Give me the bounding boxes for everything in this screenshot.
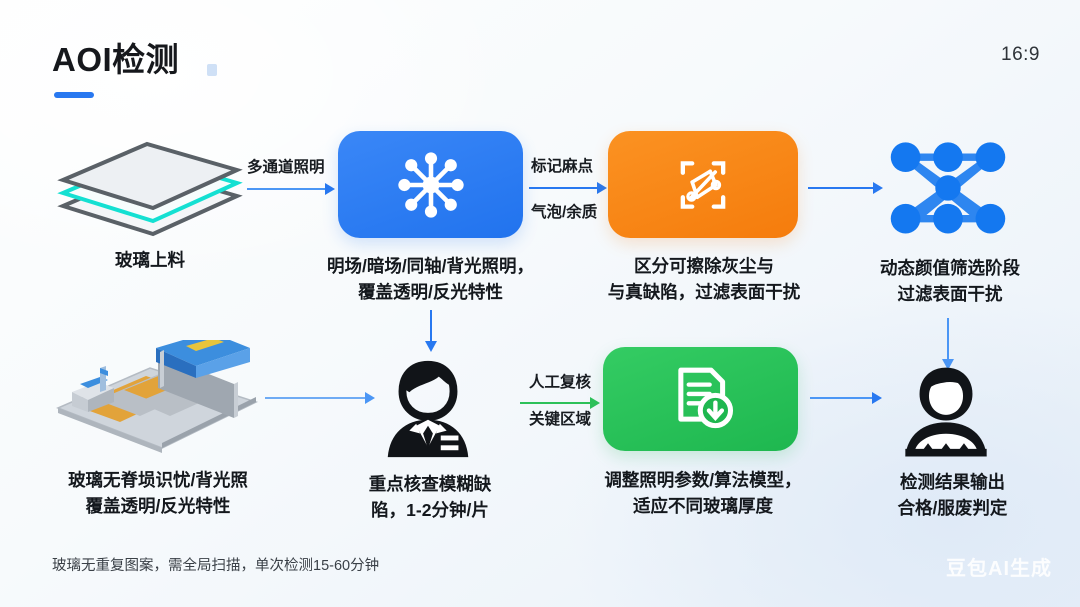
network-hub-icon [393,147,469,223]
arrow-label-mark-pits: 标记麻点 [531,154,593,176]
process-box-multi-illumination[interactable] [338,131,523,238]
operator-person-icon [894,360,998,469]
node-caption-dynamic-threshold: 动态颜值筛选阶段 过滤表面干扰 [855,256,1045,308]
aoi-machine-icon [38,340,273,455]
neural-network-icon [884,136,1012,247]
process-box-tune-params[interactable] [603,347,798,451]
document-download-icon [665,363,737,435]
glass-sheet-stack-icon [55,138,245,238]
node-caption-glass-machine: 玻璃无脊埙识忧/背光照 覆盖透明/反光特性 [38,468,278,520]
node-caption-manual-review: 重点核查模糊缺 陷，1-2分钟/片 [350,472,510,524]
ai-watermark: 豆包AI生成 [946,552,1052,581]
arrow-tuning-to-output [810,391,882,405]
arrow-label-key-area: 关键区域 [529,407,591,429]
node-caption-multi-illumination: 明场/暗场/同轴/背光照明， 覆盖透明/反光特性 [303,254,558,306]
title-decoration-dot [207,64,217,76]
arrow-label-manual-recheck: 人工复核 [529,370,591,392]
arrow-illumination-to-defect [529,181,607,195]
arrow-machine-to-review [265,391,375,405]
footer-note: 玻璃无重复图案，需全局扫描，单次检测15-60分钟 [52,554,379,575]
arrow-label-bubbles-residue: 气泡/余质 [531,200,597,222]
arrow-glass-to-illumination [247,182,335,196]
inspector-person-icon [374,355,482,468]
node-caption-result-output: 检测结果输出 合格/服废判定 [860,470,1045,522]
node-caption-glass-loading: 玻璃上料 [50,248,250,274]
arrow-defect-to-threshold [808,181,883,195]
title-underline-accent [54,92,94,98]
page-title: AOI检测 [52,33,179,81]
slide-canvas: AOI检测 16:9 玻璃上料 多通道照明 [0,0,1080,607]
scan-defect-icon [667,149,739,221]
node-caption-dust-vs-defect: 区分可擦除灰尘与 与真缺陷，过滤表面干扰 [578,254,830,306]
node-caption-tune-params: 调整照明参数/算法模型， 适应不同玻璃厚度 [578,468,828,520]
arrow-label-multi-illumination: 多通道照明 [247,155,325,177]
aspect-ratio-label: 16:9 [1001,44,1040,66]
arrow-illumination-to-review [424,310,438,352]
process-box-dust-vs-defect[interactable] [608,131,798,238]
